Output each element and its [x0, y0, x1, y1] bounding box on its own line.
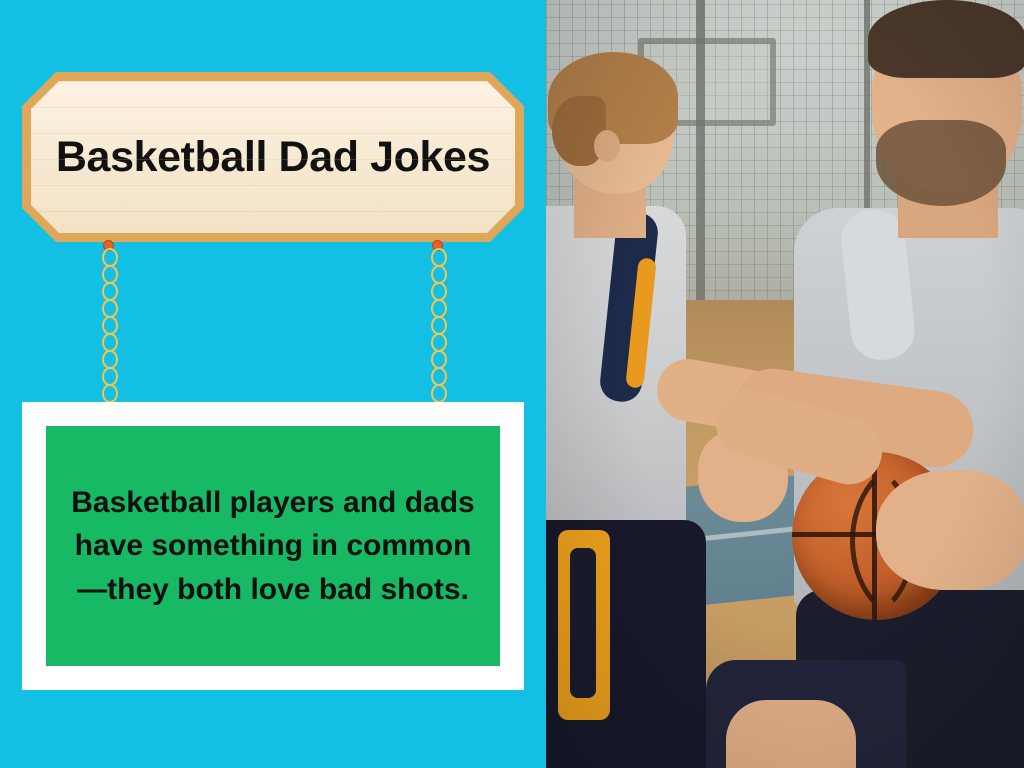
sign-face: Basketball Dad Jokes: [31, 81, 515, 233]
chain-right: [430, 248, 444, 408]
photo-hoop-pole: [696, 0, 705, 330]
dad-knee: [726, 700, 856, 768]
joke-text: Basketball players and dads have somethi…: [46, 481, 500, 612]
left-panel: Basketball Dad Jokes: [0, 0, 546, 768]
page-title: Basketball Dad Jokes: [40, 128, 506, 186]
poster-canvas: Basketball Dad Jokes: [0, 0, 1024, 768]
chain-left: [101, 248, 115, 408]
dad-beard: [876, 120, 1006, 206]
dad-hair: [868, 0, 1024, 78]
boy-shorts-stripe-inner: [570, 548, 596, 698]
joke-card-panel: Basketball players and dads have somethi…: [46, 426, 500, 666]
joke-card: Basketball players and dads have somethi…: [22, 402, 524, 690]
dad-hand: [876, 470, 1024, 590]
boy-ear: [594, 130, 620, 162]
title-sign: Basketball Dad Jokes: [22, 72, 524, 242]
basketball-photo: [546, 0, 1024, 768]
